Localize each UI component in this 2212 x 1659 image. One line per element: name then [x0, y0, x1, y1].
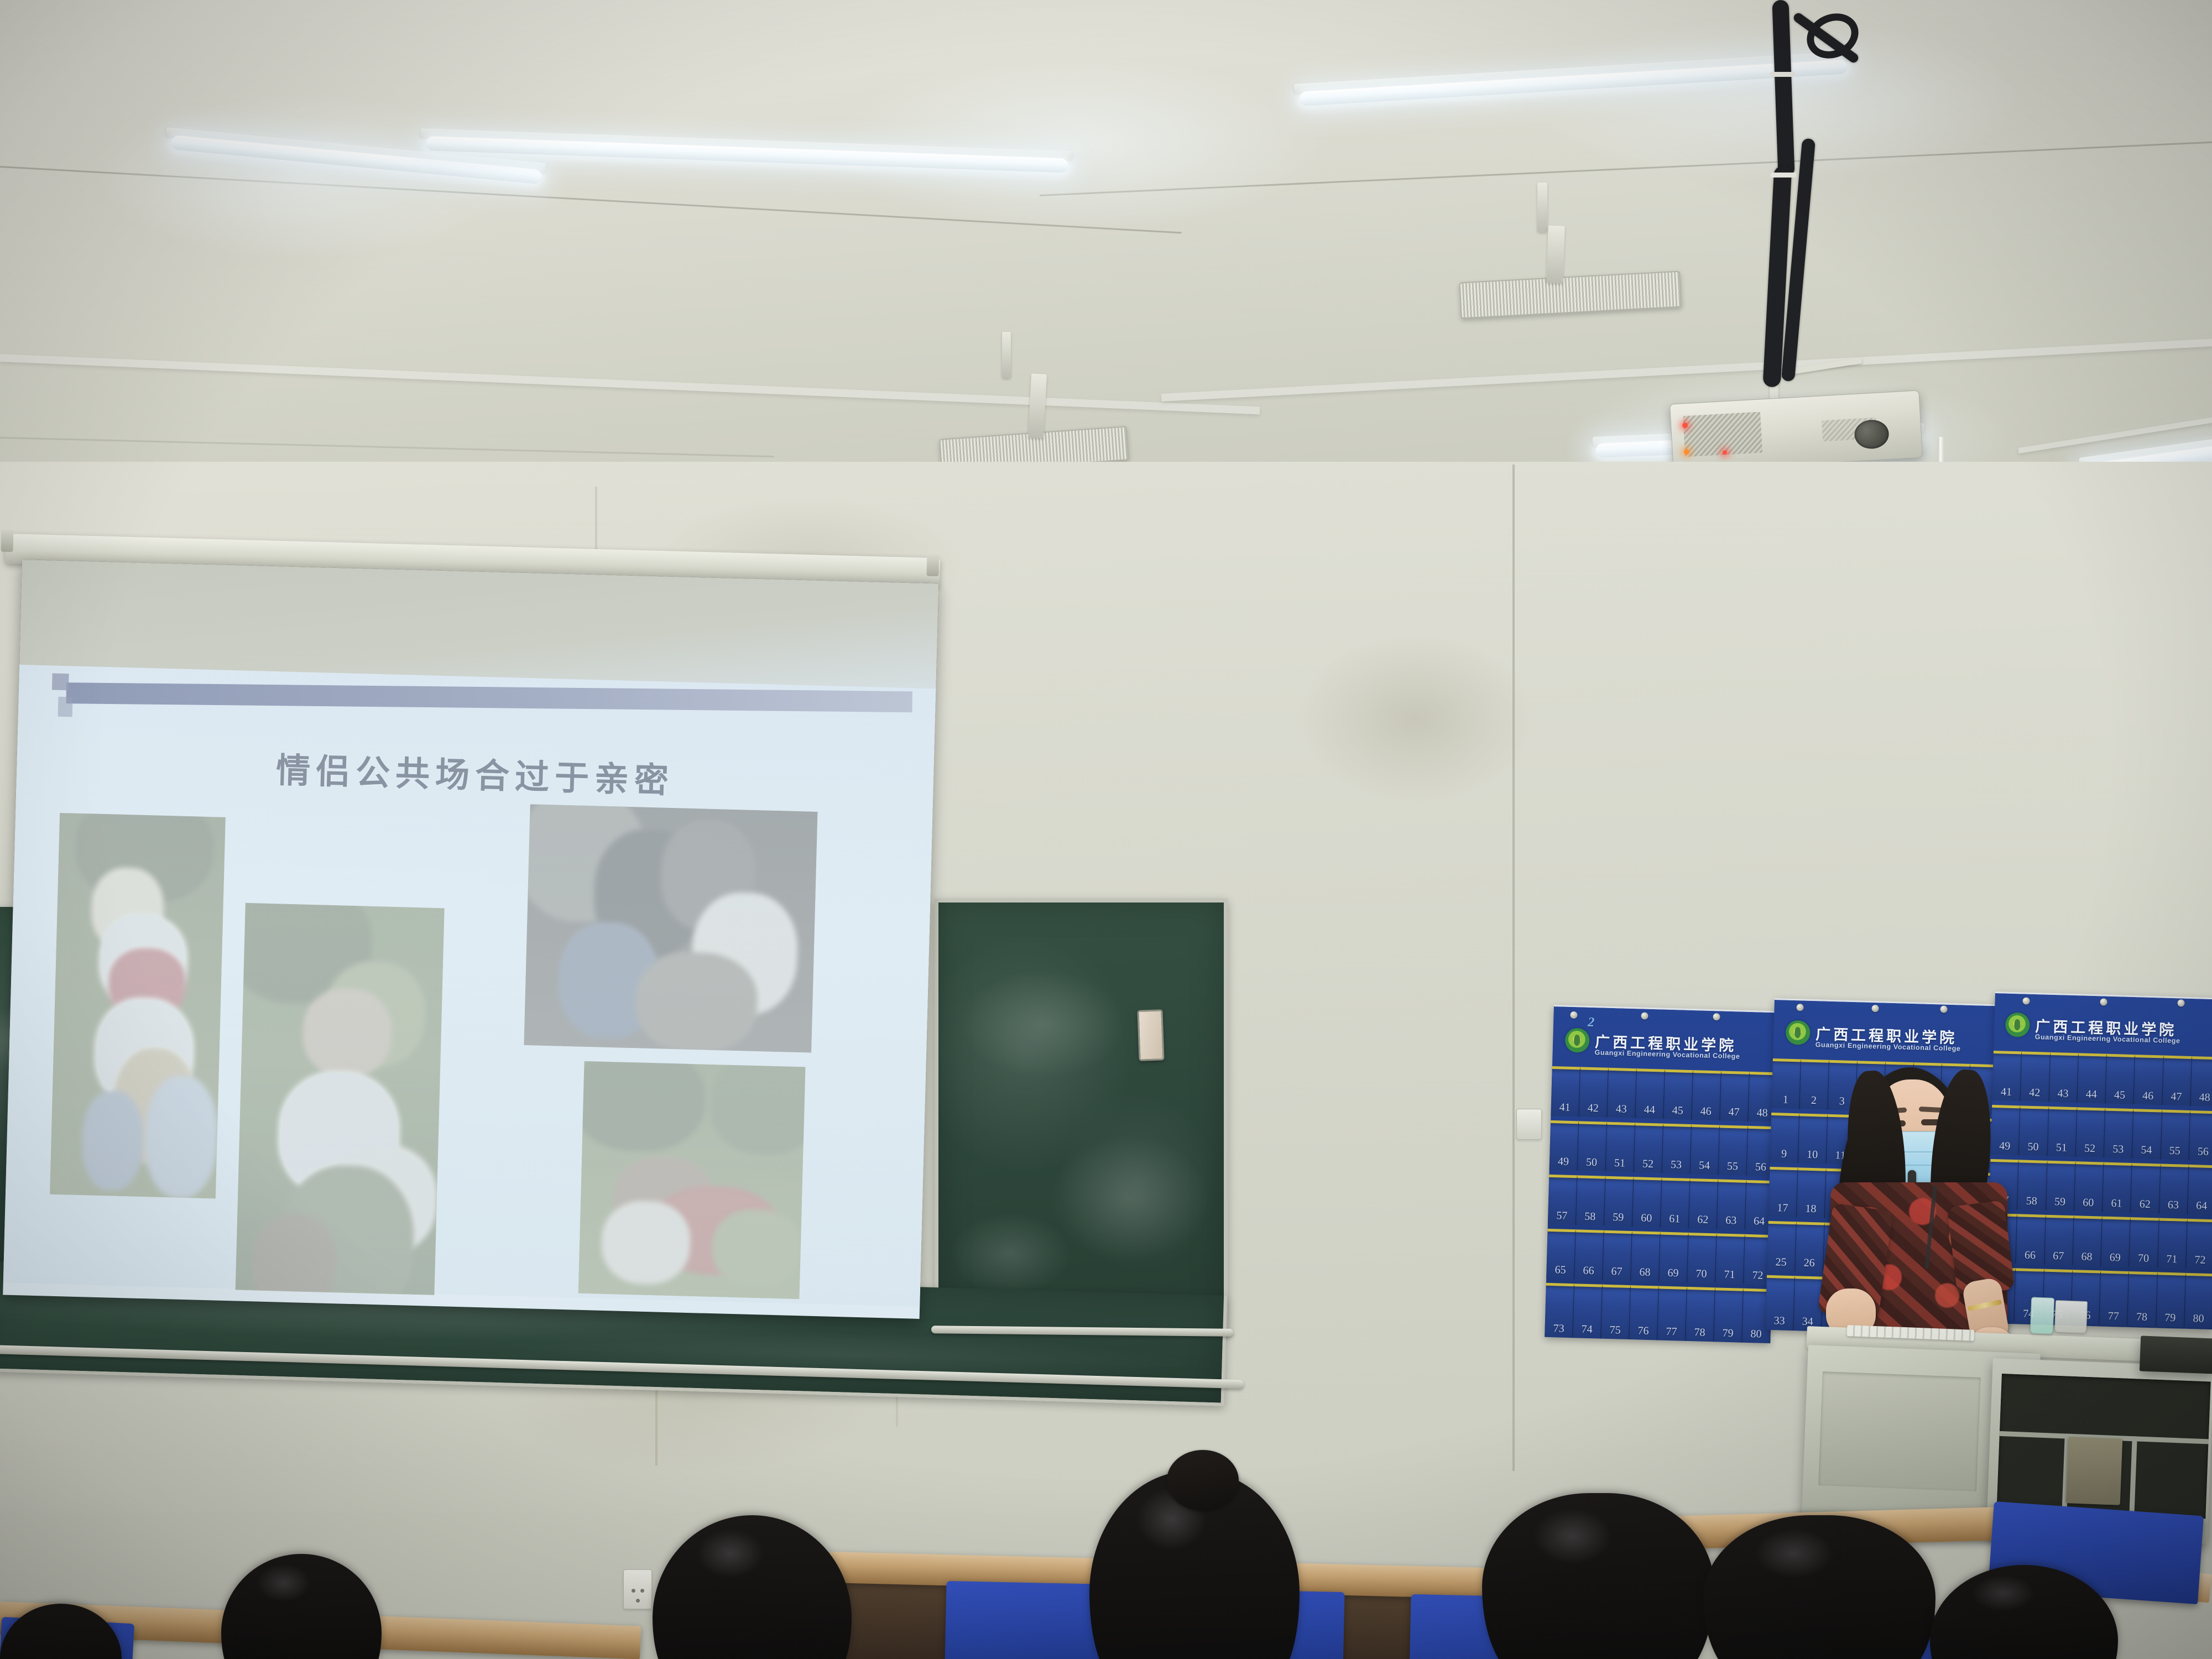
pocket-number: 56 — [1755, 1161, 1767, 1176]
phone-pocket[interactable]: 69 — [1659, 1232, 1688, 1282]
fan-mount — [1002, 332, 1011, 378]
pocket-number: 71 — [1724, 1269, 1735, 1284]
phone-pocket[interactable]: 62 — [1689, 1178, 1718, 1229]
podium-front-panel — [1818, 1371, 1981, 1491]
pocket-number: 77 — [2107, 1311, 2119, 1326]
pocket-number: 55 — [1727, 1161, 1739, 1176]
pocket-number: 47 — [1728, 1107, 1740, 1121]
pocket-number: 57 — [1556, 1210, 1568, 1225]
pocket-number: 76 — [1637, 1325, 1649, 1340]
pocket-number: 61 — [1669, 1213, 1681, 1228]
phone-pocket[interactable]: 72 — [2186, 1219, 2212, 1269]
phone-pocket[interactable]: 77 — [2099, 1271, 2129, 1326]
wall-smudge — [1300, 636, 1532, 802]
pocket-number: 72 — [1752, 1270, 1764, 1285]
pocket-number: 52 — [1642, 1159, 1654, 1173]
water-bottle[interactable] — [2030, 1297, 2055, 1334]
pocket-number: 70 — [2138, 1253, 2150, 1267]
banner-pin — [1796, 1004, 1803, 1011]
phone-pocket[interactable]: 49 — [1550, 1120, 1579, 1171]
pocket-number: 62 — [2139, 1198, 2151, 1213]
pocket-number: 65 — [1554, 1264, 1566, 1279]
pocket-number: 45 — [2114, 1089, 2126, 1104]
pocket-number: 64 — [2196, 1200, 2208, 1215]
banner-pin — [1570, 1011, 1577, 1019]
chalkboard-main — [935, 899, 1228, 1335]
phone-pocket[interactable]: 25 — [1767, 1221, 1796, 1271]
student-head — [653, 1515, 852, 1659]
phone-pocket[interactable]: 45 — [2105, 1054, 2135, 1104]
phone-pocket[interactable]: 70 — [1687, 1233, 1717, 1283]
pocket-number: 46 — [2142, 1091, 2154, 1105]
pocket-number: 80 — [2193, 1313, 2204, 1328]
slide-title: 情侣公共场合过于亲密 — [16, 735, 934, 809]
pocket-number: 75 — [1609, 1324, 1621, 1339]
pocket-number: 48 — [1756, 1107, 1768, 1122]
phone-pocket[interactable]: 44 — [2077, 1053, 2107, 1103]
pocket-row: 4950515253545556 — [1550, 1120, 1776, 1176]
phone-pocket[interactable]: 54 — [1691, 1124, 1720, 1175]
fan-mount — [1546, 226, 1565, 284]
fan-mount — [1537, 182, 1547, 232]
pocket-number: 26 — [1803, 1258, 1815, 1272]
phone-pocket[interactable]: 55 — [1719, 1125, 1748, 1175]
pocket-number: 78 — [2136, 1311, 2148, 1326]
pocket-number: 46 — [1700, 1105, 1712, 1120]
phone-pocket[interactable]: 58 — [1576, 1175, 1605, 1225]
pocket-number: 58 — [1584, 1211, 1596, 1226]
roller-end-cap — [926, 554, 939, 577]
phone-pocket[interactable]: 67 — [1603, 1230, 1632, 1281]
phone-pocket[interactable]: 46 — [1692, 1070, 1721, 1120]
phone-pocket[interactable]: 78 — [1686, 1287, 1715, 1342]
student-head — [221, 1554, 382, 1659]
pocket-number: 49 — [1558, 1156, 1569, 1171]
student-hair-bun — [1167, 1450, 1239, 1511]
phone-pocket[interactable]: 57 — [1548, 1175, 1577, 1225]
phone-pocket[interactable]: 63 — [2159, 1164, 2189, 1214]
pocket-chart-panel-left: 2 广西工程职业学院 Guangxi Engineering Vocationa… — [1545, 1005, 1780, 1343]
college-logo-icon — [1565, 1028, 1590, 1053]
phone-pocket[interactable]: 55 — [2161, 1110, 2190, 1160]
phone-pocket[interactable]: 70 — [2129, 1217, 2159, 1267]
phone-pocket[interactable]: 73 — [1545, 1283, 1574, 1338]
pocket-number: 33 — [1773, 1315, 1785, 1330]
classroom-photo: 情侣公共场合过于亲密 — [0, 0, 2212, 1659]
phone-pocket[interactable]: 75 — [1601, 1285, 1631, 1339]
phone-pocket[interactable]: 60 — [1632, 1177, 1662, 1227]
pocket-number: 62 — [1697, 1214, 1709, 1229]
phone-pocket[interactable]: 52 — [1634, 1123, 1663, 1173]
phone-pocket[interactable]: 71 — [1715, 1233, 1745, 1284]
pocket-number: 60 — [1641, 1213, 1652, 1228]
pocket-number: 64 — [1754, 1215, 1765, 1230]
pocket-number: 43 — [1615, 1103, 1627, 1118]
pocket-number: 80 — [1750, 1328, 1762, 1343]
paper-cup[interactable] — [2054, 1300, 2088, 1333]
phone-pocket[interactable]: 1 — [1771, 1058, 1801, 1109]
slide-photo-3 — [236, 903, 445, 1295]
banner-pin — [1713, 1013, 1720, 1020]
pocket-number: 73 — [1553, 1323, 1564, 1338]
phone-pocket[interactable]: 47 — [1720, 1071, 1749, 1121]
pocket-number: 67 — [1611, 1266, 1623, 1281]
phone-pocket[interactable]: 54 — [2132, 1109, 2162, 1159]
college-logo-icon — [2005, 1013, 2030, 1037]
pocket-row: 4142434445464748 — [1551, 1066, 1777, 1122]
panel-number: 2 — [1588, 1015, 1595, 1030]
phone-pocket[interactable]: 50 — [1578, 1121, 1607, 1171]
phone-pocket[interactable]: 79 — [1714, 1287, 1744, 1342]
pocket-number: 70 — [1695, 1268, 1707, 1283]
phone-pocket[interactable]: 17 — [1768, 1167, 1798, 1217]
phone-pocket[interactable]: 66 — [1574, 1229, 1604, 1280]
phone-pocket[interactable]: 41 — [1551, 1066, 1580, 1117]
phone-pocket[interactable]: 47 — [2162, 1056, 2192, 1106]
pocket-number: 53 — [1671, 1159, 1682, 1174]
student-head — [1482, 1493, 1714, 1659]
phone-pocket[interactable]: 68 — [1631, 1231, 1660, 1281]
pocket-number: 69 — [1667, 1267, 1679, 1282]
phone-pocket[interactable]: 62 — [2131, 1163, 2161, 1213]
pocket-number: 54 — [1699, 1160, 1710, 1175]
pocket-number: 51 — [1614, 1157, 1626, 1172]
phone-pocket[interactable]: 46 — [2134, 1055, 2164, 1105]
slide-photo-4 — [578, 1061, 806, 1299]
pocket-row: 7374757677787980 — [1545, 1283, 1772, 1343]
phone-pocket[interactable]: 9 — [1770, 1113, 1799, 1163]
pocket-number: 52 — [2084, 1143, 2096, 1158]
pocket-number: 79 — [1722, 1328, 1734, 1343]
wall-junction-box — [1516, 1109, 1542, 1140]
phone-pocket[interactable]: 65 — [1546, 1229, 1575, 1279]
pocket-number: 68 — [1639, 1267, 1651, 1282]
roller-end-cap — [1, 530, 13, 552]
phone-pocket[interactable]: 44 — [1635, 1068, 1665, 1119]
banner-pin — [1871, 1005, 1879, 1012]
slide-accent-bar — [66, 682, 912, 712]
chalkboard-eraser[interactable] — [1137, 1009, 1164, 1061]
pocket-number: 71 — [2166, 1254, 2178, 1269]
phone-pocket[interactable]: 69 — [2101, 1217, 2131, 1267]
pocket-number: 63 — [1725, 1215, 1737, 1230]
phone-pocket[interactable]: 78 — [2127, 1271, 2157, 1326]
projection-screen: 情侣公共场合过于亲密 — [3, 560, 938, 1319]
phone-pocket[interactable]: 71 — [2158, 1218, 2188, 1268]
banner-pin — [2100, 998, 2107, 1005]
phone-pocket[interactable]: 61 — [1661, 1178, 1690, 1228]
projector-vent — [1683, 412, 1762, 457]
phone-pocket[interactable]: 53 — [1662, 1124, 1692, 1174]
podium-monitor-back — [2140, 1335, 2212, 1374]
slide-area: 情侣公共场合过于亲密 — [3, 665, 936, 1307]
student-head — [1703, 1515, 1936, 1659]
pocket-number: 1 — [1782, 1094, 1788, 1108]
slide-accent-square — [52, 674, 69, 691]
phone-pocket[interactable]: 59 — [1604, 1176, 1634, 1227]
banner-pin — [1940, 1005, 1947, 1013]
pocket-number: 79 — [2164, 1312, 2176, 1327]
phone-pocket[interactable]: 45 — [1663, 1070, 1693, 1120]
phone-pocket[interactable]: 68 — [2073, 1215, 2103, 1266]
wall-seam — [1512, 465, 1515, 1471]
phone-pocket[interactable]: 48 — [2190, 1056, 2212, 1107]
banner-pin — [2177, 999, 2184, 1006]
phone-pocket[interactable]: 76 — [1629, 1285, 1659, 1340]
bag-under-podium — [2066, 1437, 2123, 1505]
phone-pocket[interactable]: 64 — [2188, 1165, 2212, 1215]
pocket-number: 17 — [1777, 1202, 1788, 1217]
college-logo-icon — [1786, 1020, 1811, 1045]
pocket-number: 59 — [1613, 1212, 1624, 1227]
pocket-number: 77 — [1666, 1326, 1677, 1341]
phone-pocket[interactable]: 61 — [2103, 1162, 2132, 1213]
phone-pocket[interactable]: 42 — [1579, 1067, 1608, 1117]
phone-pocket[interactable]: 51 — [1606, 1122, 1635, 1172]
pocket-number: 41 — [1559, 1102, 1571, 1117]
cable-tie — [1771, 173, 1796, 178]
pocket-number: 45 — [1672, 1105, 1683, 1120]
pocket-row: 6566676869707172 — [1546, 1229, 1773, 1285]
phone-pocket[interactable]: 56 — [2189, 1110, 2212, 1161]
phone-pocket[interactable]: 80 — [2184, 1273, 2212, 1328]
pocket-number: 50 — [1586, 1157, 1598, 1172]
pocket-number: 63 — [2168, 1199, 2179, 1214]
slide-accent-square — [58, 697, 73, 717]
pocket-number: 9 — [1781, 1148, 1787, 1162]
pocket-number: 74 — [1581, 1324, 1593, 1339]
student-chair[interactable] — [945, 1581, 1112, 1659]
phone-pocket[interactable]: 52 — [2075, 1107, 2105, 1157]
cable-tie — [1770, 72, 1795, 77]
phone-pocket[interactable]: 74 — [1573, 1284, 1603, 1338]
wall-power-outlet — [623, 1569, 652, 1609]
phone-pocket[interactable]: 79 — [2156, 1272, 2186, 1327]
pocket-row: 5758596061626364 — [1548, 1175, 1775, 1230]
banner-pin — [2022, 997, 2030, 1004]
pocket-number: 54 — [2141, 1144, 2152, 1159]
pocket-number: 55 — [2169, 1145, 2180, 1160]
pocket-number: 25 — [1775, 1256, 1787, 1271]
pocket-number: 61 — [2111, 1198, 2122, 1213]
pocket-number: 60 — [2083, 1197, 2094, 1212]
phone-pocket[interactable]: 33 — [1765, 1275, 1795, 1330]
pocket-number: 56 — [2197, 1146, 2209, 1161]
screen-surface: 情侣公共场合过于亲密 — [3, 560, 938, 1319]
pocket-number: 44 — [2085, 1089, 2097, 1104]
pocket-number: 48 — [2199, 1092, 2210, 1107]
pocket-number: 78 — [1694, 1327, 1705, 1342]
pocket-number: 42 — [1587, 1103, 1599, 1118]
pocket-number: 68 — [2081, 1251, 2093, 1266]
phone-pocket[interactable]: 63 — [1717, 1179, 1746, 1229]
phone-pocket[interactable]: 43 — [1607, 1068, 1636, 1118]
pocket-number: 69 — [2109, 1252, 2121, 1267]
pocket-number: 53 — [2112, 1144, 2124, 1159]
slide-photo-1 — [50, 813, 226, 1199]
pocket-number: 66 — [1583, 1265, 1594, 1280]
pocket-number: 47 — [2171, 1091, 2182, 1106]
slide-photo-2 — [524, 804, 817, 1052]
pocket-number: 44 — [1644, 1104, 1655, 1119]
phone-pocket[interactable]: 53 — [2104, 1108, 2134, 1159]
phone-pocket[interactable]: 77 — [1657, 1286, 1687, 1341]
phone-pocket[interactable]: 60 — [2074, 1161, 2104, 1212]
banner-pin — [1641, 1012, 1648, 1019]
pocket-number: 72 — [2194, 1254, 2206, 1269]
